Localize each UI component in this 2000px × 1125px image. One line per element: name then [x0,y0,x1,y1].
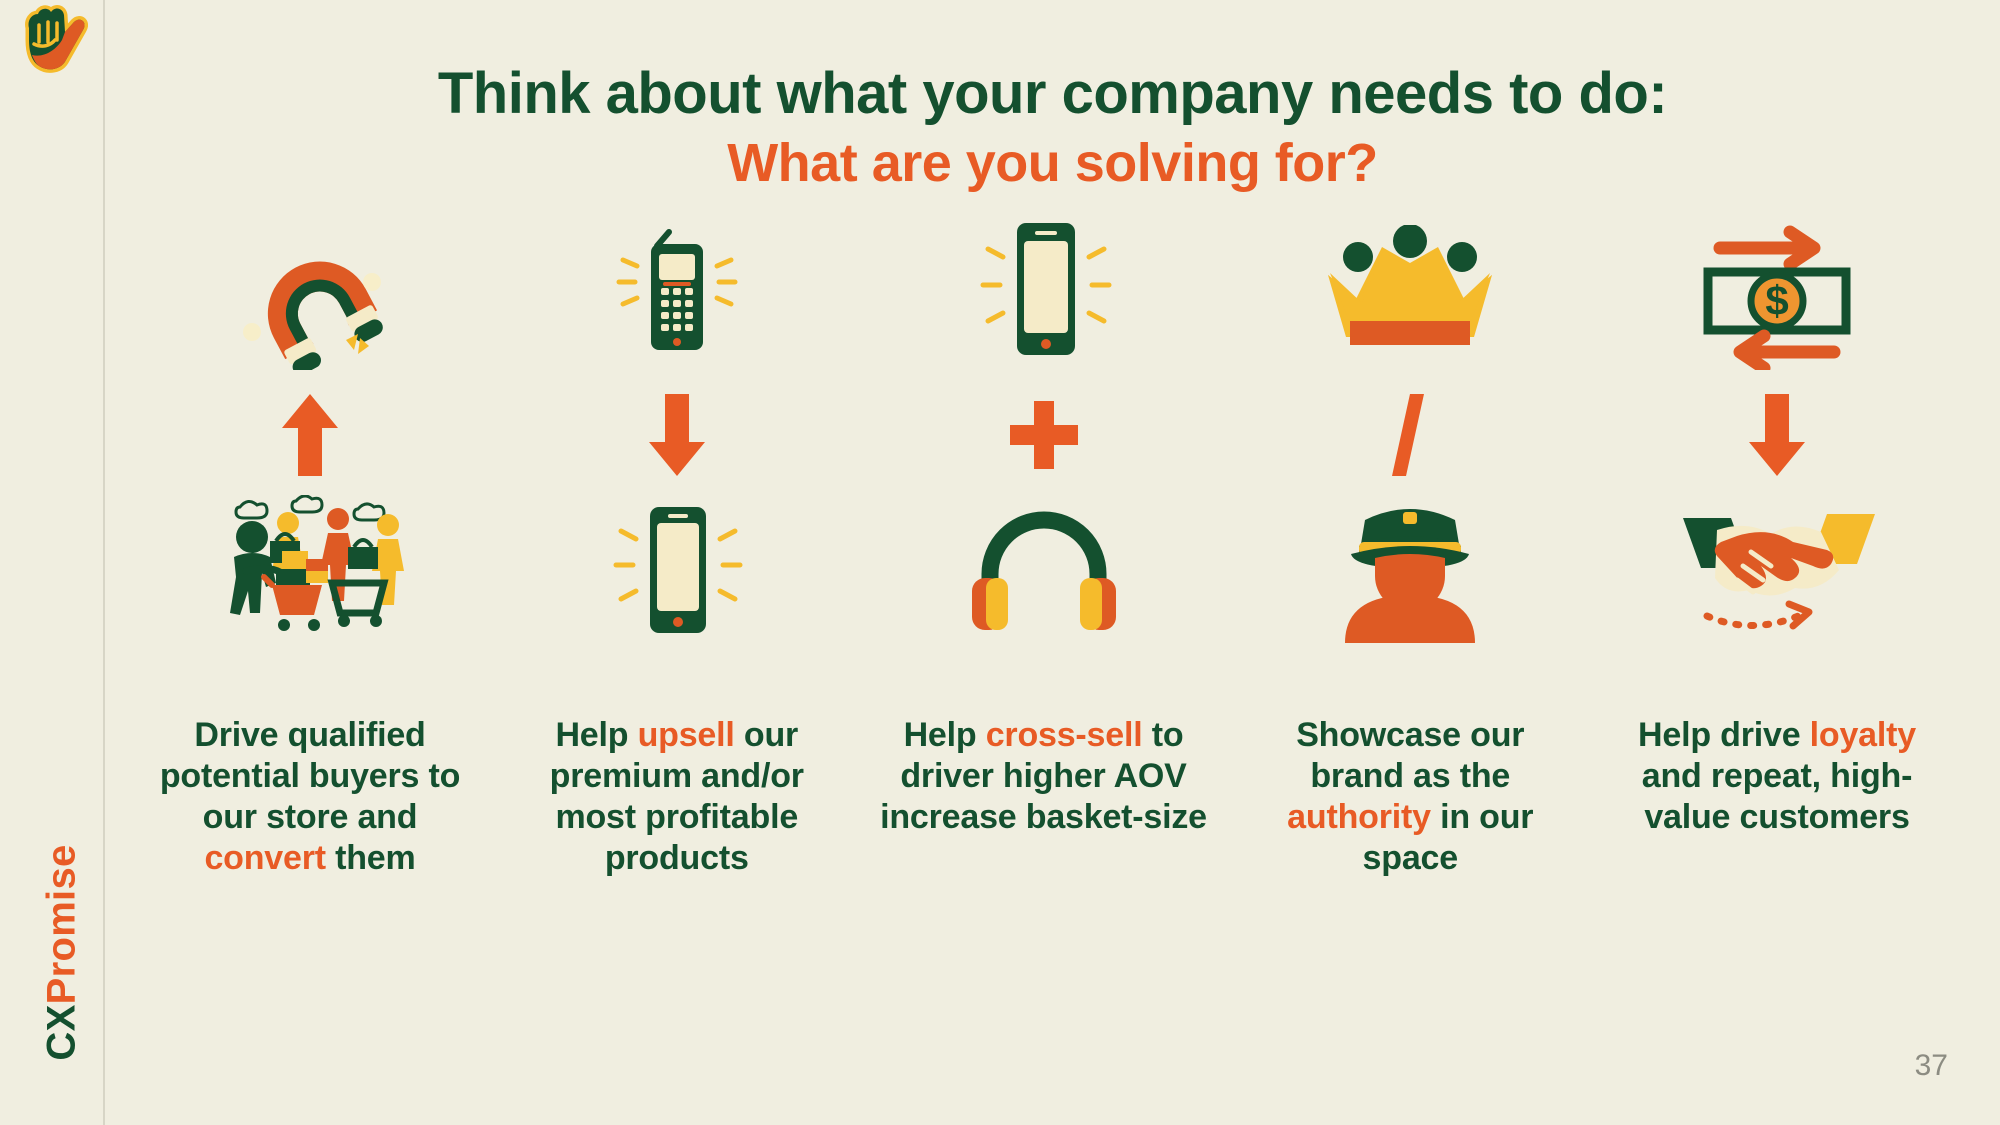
columns-container: Drive qualified potential buyers to our … [105,215,2000,879]
column-caption: Help drive loyalty and repeat, high-valu… [1612,715,1942,838]
feature-phone-icon [512,215,842,375]
caption-highlight: authority [1287,798,1431,836]
caption-text: Showcase our brand as the [1296,716,1524,795]
caption-highlight: cross-sell [986,716,1143,754]
money-exchange-icon: $ [1612,215,1942,375]
operator-arrow-down-icon [512,375,842,495]
operator-arrow-down-icon [1612,375,1942,495]
operator-slash-icon [1245,375,1575,495]
magnet-icon [145,215,475,375]
rail-brand-label: CXPromise [40,833,85,1073]
caption-text: them [326,839,416,877]
caption-text: Help drive [1638,716,1810,754]
shoppers-with-carts-icon [145,495,475,645]
slide-canvas: CXPromise Think about what your company … [0,0,2000,1125]
column-cross-sell: Help cross-sell to driver higher AOV inc… [879,215,1209,879]
caption-text: Help [555,716,637,754]
handshake-icon [1612,495,1942,645]
column-upsell: Help upsell our premium and/or most prof… [512,215,842,879]
officer-icon [1245,495,1575,645]
smartphone-icon [512,495,842,645]
left-rail: CXPromise [0,0,105,1125]
rail-brand-cx: CX [40,1004,84,1060]
caption-highlight: convert [204,839,325,877]
smartphone-icon [879,215,1209,375]
column-authority: Showcase our brand as the authority in o… [1245,215,1575,879]
page-number: 37 [1915,1049,1948,1083]
caption-text: Help [904,716,986,754]
column-caption: Help upsell our premium and/or most prof… [512,715,842,879]
column-caption: Drive qualified potential buyers to our … [145,715,475,879]
headphones-icon [879,495,1209,645]
operator-plus-icon [879,375,1209,495]
slide-title: Think about what your company needs to d… [105,62,2000,194]
rail-brand-promise: Promise [40,844,84,1004]
operator-arrow-up-icon [145,375,475,495]
caption-text: and repeat, high-value customers [1642,757,1913,836]
caption-highlight: loyalty [1810,716,1916,754]
caption-highlight: upsell [638,716,735,754]
raised-fist-icon [18,2,88,74]
title-line-1: Think about what your company needs to d… [105,62,2000,126]
column-caption: Help cross-sell to driver higher AOV inc… [879,715,1209,838]
title-line-2: What are you solving for? [105,132,2000,194]
crown-icon [1245,215,1575,375]
column-loyalty: $ [1612,215,1942,879]
caption-text: Drive qualified potential buyers to our … [160,716,460,836]
column-caption: Showcase our brand as the authority in o… [1245,715,1575,879]
svg-text:$: $ [1765,277,1788,324]
column-drive-qualified-buyers: Drive qualified potential buyers to our … [145,215,475,879]
